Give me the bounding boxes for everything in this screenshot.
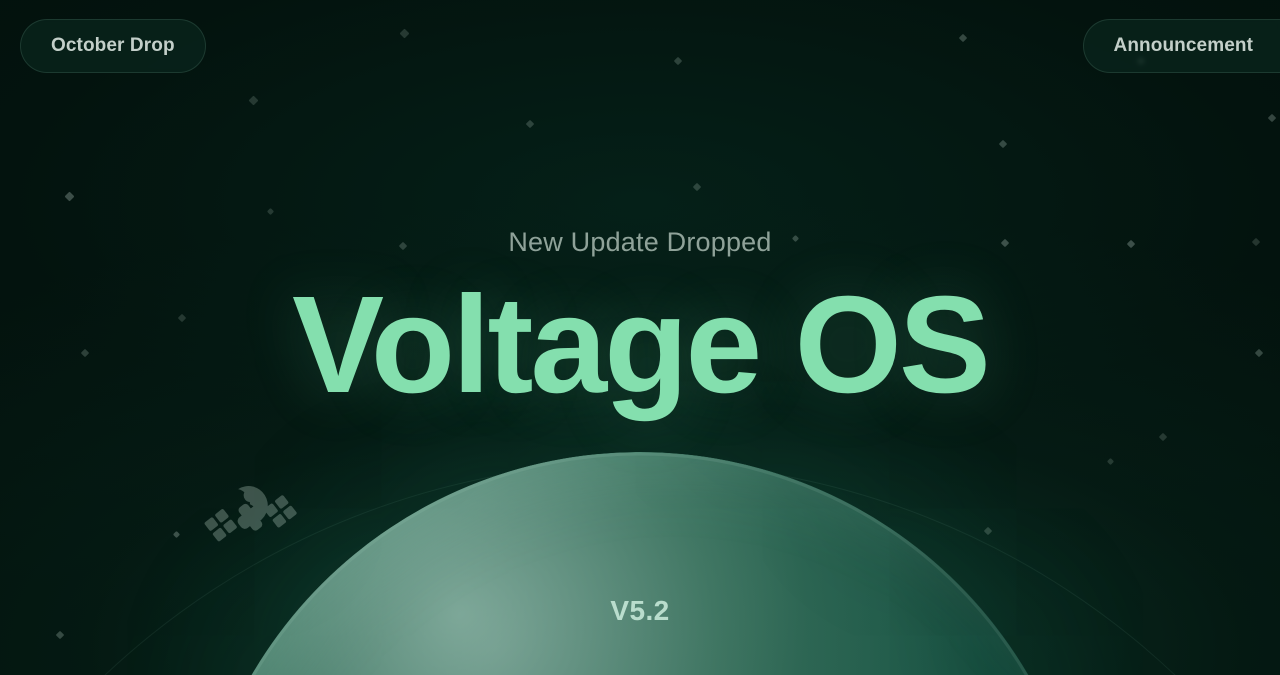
sparkle-star <box>399 28 409 38</box>
announcement-hero: October Drop Announcement New Update Dro… <box>0 0 1280 675</box>
sparkle-star <box>1268 114 1276 122</box>
announcement-badge-label: Announcement <box>1114 35 1253 57</box>
sparkle-star <box>1255 349 1263 357</box>
sparkle-star <box>526 120 534 128</box>
sparkle-star <box>1106 457 1113 464</box>
sparkle-star <box>1252 238 1260 246</box>
version-label: V5.2 <box>0 595 1280 627</box>
sparkle-star <box>674 57 682 65</box>
hero-headline: New Update Dropped Voltage OS <box>0 228 1280 414</box>
october-drop-badge-label: October Drop <box>51 35 175 57</box>
page-title: Voltage OS <box>0 276 1280 414</box>
sparkle-star <box>999 140 1007 148</box>
sparkle-star <box>172 530 179 537</box>
sparkle-star <box>1127 240 1135 248</box>
satellite-icon <box>203 470 299 566</box>
sparkle-star <box>737 327 744 334</box>
sparkle-star <box>64 191 74 201</box>
globe-illustration <box>190 452 1090 675</box>
sparkle-star <box>399 242 407 250</box>
sparkle-star <box>1001 239 1009 247</box>
sparkle-star <box>1159 433 1167 441</box>
sparkle-star <box>959 34 967 42</box>
hero-eyebrow: New Update Dropped <box>0 228 1280 258</box>
sparkle-star <box>266 207 273 214</box>
sparkle-star <box>791 234 798 241</box>
announcement-badge[interactable]: Announcement <box>1083 19 1280 73</box>
sparkle-star <box>178 314 186 322</box>
sparkle-star <box>248 95 258 105</box>
sparkle-star <box>56 631 64 639</box>
sparkle-star <box>693 183 701 191</box>
sparkle-star <box>984 527 992 535</box>
october-drop-badge[interactable]: October Drop <box>20 19 206 73</box>
sparkle-star <box>81 349 89 357</box>
